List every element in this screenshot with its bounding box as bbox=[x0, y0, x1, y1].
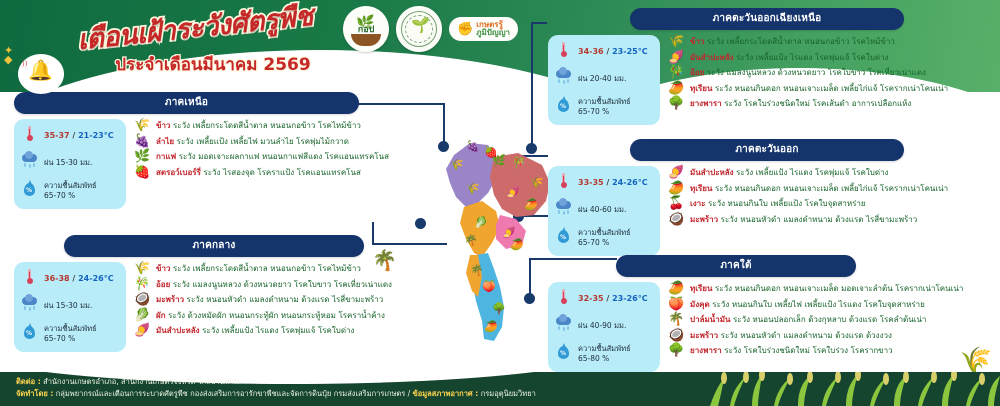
vegetable-icon: 🥬 bbox=[134, 310, 151, 322]
temp-low-south: 23-26°C bbox=[612, 294, 647, 303]
map-icon-longan: 🍇 bbox=[466, 141, 480, 152]
connector-north-h bbox=[355, 103, 445, 105]
page-footer: ติดต่อ : สำนักงานเกษตรอำเภอ, สำนักงานเกษ… bbox=[0, 372, 1000, 406]
crop-row: 🌳ยางพารา ระวัง โรคใบร่วงชนิดใหม่ โรคเส้น… bbox=[668, 98, 948, 110]
crop-row: 🥬ผัก ระวัง ด้วงหมัดผัก หนอนกระทู้ผัก หนอ… bbox=[134, 310, 392, 322]
rubber-icon: 🌳 bbox=[668, 345, 685, 357]
temp-high-central: 36-38 bbox=[44, 274, 70, 283]
humidity-label-north: ความชื้นสัมพัทธ์ bbox=[44, 181, 97, 190]
temp-low-east: 24-26°C bbox=[612, 178, 647, 187]
crop-list-north: 🌾ข้าว ระวัง เพลี้ยกระโดดสีน้ำตาล หนอนกอข… bbox=[134, 119, 389, 182]
humidity-label-central: ความชื้นสัมพัทธ์ bbox=[44, 324, 97, 333]
humidity-drop-icon: % bbox=[555, 229, 572, 248]
logo-group: 🌿 กอป 🌱 ✊ เกษตรรู้ ภูมิปัญญา bbox=[343, 6, 518, 52]
kob-logo-label: กอป bbox=[358, 22, 375, 36]
temp-low-central: 24-26°C bbox=[78, 274, 113, 283]
weather-box-east: 33-35 / 24-26°C ฝน 40-60 มม. % ความชื้นส… bbox=[548, 166, 660, 256]
map-icon-cassava-east: 🍠 bbox=[502, 227, 516, 238]
map-icon-rice-ne: 🌾 bbox=[530, 177, 544, 188]
temp-high-north: 35-37 bbox=[44, 131, 70, 140]
cassava-icon: 🍠 bbox=[668, 52, 685, 64]
footer-contact-text: สำนักงานเกษตรอำเภอ, สำนักงานเกษตรจังหวัด… bbox=[43, 377, 239, 386]
durian-icon: 🥭 bbox=[668, 183, 685, 195]
map-icon-durian-ne: 🥭 bbox=[524, 199, 538, 210]
humidity-value-east: 65-70 % bbox=[578, 238, 609, 247]
kasetru-logo: ✊ เกษตรรู้ ภูมิปัญญา bbox=[449, 17, 518, 42]
fist-icon: ✊ bbox=[457, 22, 473, 37]
crop-row: 🍓สตรอว์เบอร์รี่ ระวัง ไรสองจุด โรคราแป้ง… bbox=[134, 167, 389, 179]
thermometer-icon bbox=[21, 269, 38, 288]
humidity-label-south: ความชื้นสัมพัทธ์ bbox=[578, 344, 631, 353]
cassava-icon: 🍠 bbox=[134, 325, 151, 337]
sugarcane-icon: 🎋 bbox=[134, 279, 151, 291]
rainfall-south: ฝน 40-90 มม. bbox=[578, 321, 626, 331]
durian-icon: 🥭 bbox=[668, 283, 685, 295]
rain-cloud-icon bbox=[555, 317, 572, 335]
rain-cloud-icon bbox=[21, 154, 38, 172]
humidity-drop-icon: % bbox=[21, 182, 38, 201]
map-icon-coffee: 🌿 bbox=[492, 155, 506, 166]
map-icon-palm-south: 🌴 bbox=[470, 265, 484, 276]
map-icon-coconut-central: 🌴 bbox=[464, 235, 478, 246]
rice-icon: 🌾 bbox=[134, 120, 151, 132]
weather-box-central: 36-38 / 24-26°C ฝน 15-30 มม. % ความชื้นส… bbox=[14, 262, 126, 352]
region-panel-south: ภาคใต้ 32-35 / 23-26°C ฝน 40-90 มม. % คว… bbox=[548, 255, 996, 372]
region-title-south: ภาคใต้ bbox=[616, 255, 856, 277]
thermometer-icon bbox=[555, 173, 572, 192]
crop-row: 🥭ทุเรียน ระวัง หนอนกินดอก หนอนเจาะเมล็ด … bbox=[668, 183, 948, 195]
bell-ring-lines: )) bbox=[22, 60, 27, 68]
thailand-map: 🍇 🍓 🌿 🌾 🌾 🎋 🌾 🍠 🥭 🥬 🌴 🍠 🥭 🌴 🍑 🌳 🥭 bbox=[430, 135, 560, 365]
thermometer-icon bbox=[21, 126, 38, 145]
humidity-value-central: 65-70 % bbox=[44, 334, 75, 343]
coffee-icon: 🌿 bbox=[134, 151, 151, 163]
weather-box-south: 32-35 / 23-26°C ฝน 40-90 มม. % ความชื้นส… bbox=[548, 282, 660, 372]
humidity-value-south: 65-80 % bbox=[578, 354, 609, 363]
temp-high-south: 32-35 bbox=[578, 294, 604, 303]
crop-row: 🌳ยางพารา ระวัง โรคใบร่วงชนิดใหม่ โรคใบร่… bbox=[668, 345, 963, 357]
grass-decoration bbox=[700, 372, 1000, 406]
coconut-icon: 🥥 bbox=[668, 214, 685, 226]
humidity-label-northeast: ความชื้นสัมพัทธ์ bbox=[578, 97, 631, 106]
rubber-icon: 🌳 bbox=[668, 98, 685, 110]
rain-cloud-icon bbox=[21, 297, 38, 315]
temp-high-east: 33-35 bbox=[578, 178, 604, 187]
rice-icon: 🌾 bbox=[668, 36, 685, 48]
crop-row: 🎋อ้อย ระวัง แมลงนูนหลวง ด้วงหนวดยาว โรคใ… bbox=[134, 279, 392, 291]
title-block: เตือนเฝ้าระวังศัตรูพืช ประจำเดือนมีนาคม … bbox=[45, 6, 345, 78]
sugarcane-icon: 🎋 bbox=[668, 67, 685, 79]
strawberry-icon: 🍓 bbox=[134, 167, 151, 179]
humidity-label-east: ความชื้นสัมพัทธ์ bbox=[578, 228, 631, 237]
rainfall-northeast: ฝน 20-40 มม. bbox=[578, 74, 626, 84]
longan-icon: 🍇 bbox=[134, 136, 151, 148]
map-region-central bbox=[460, 201, 500, 257]
map-icon-vegetable-central: 🥬 bbox=[474, 217, 488, 228]
humidity-drop-icon: % bbox=[21, 325, 38, 344]
footer-author-text: กลุ่มพยากรณ์และเตือนการระบาดศัตรูพืช กอง… bbox=[56, 389, 411, 398]
crop-row: 🌾ข้าว ระวัง เพลี้ยกระโดดสีน้ำตาล หนอนกอข… bbox=[134, 120, 389, 132]
bell-icon: 🔔 bbox=[28, 58, 53, 82]
crop-row: 🌴ปาล์มน้ำมัน ระวัง หนอนปลอกเล็ก ด้วงกุหล… bbox=[668, 314, 963, 326]
humidity-drop-icon: % bbox=[555, 98, 572, 117]
sparkle-decoration: ✦◆ bbox=[4, 46, 13, 64]
map-icon-rice-north2: 🌾 bbox=[466, 183, 480, 194]
rainfall-central: ฝน 15-30 มม. bbox=[44, 301, 92, 311]
connector-ne-v bbox=[531, 22, 533, 147]
crop-list-south: 🥭ทุเรียน ระวัง หนอนกินดอก หนอนเจาะเมล็ด … bbox=[668, 282, 963, 361]
crop-list-northeast: 🌾ข้าว ระวัง เพลี้ยกระโดดสีน้ำตาล หนอนกอข… bbox=[668, 35, 948, 114]
oilpalm-icon: 🌴 bbox=[668, 314, 685, 326]
cassava-icon: 🍠 bbox=[668, 167, 685, 179]
rice-icon: 🌾 bbox=[134, 263, 151, 275]
durian-icon: 🥭 bbox=[668, 83, 685, 95]
kob-logo: 🌿 กอป bbox=[343, 6, 389, 52]
humidity-drop-icon: % bbox=[555, 345, 572, 364]
thermometer-icon bbox=[555, 42, 572, 61]
crop-row: 🎋อ้อย ระวัง แมลงนูนหลวง ด้วงหนวดยาว โรคใ… bbox=[668, 67, 948, 79]
footer-author-label: จัดทำโดย : bbox=[16, 389, 53, 398]
region-panel-north: ภาคเหนือ 35-37 / 21-23°C ฝน 15-30 มม. % … bbox=[14, 92, 359, 209]
crop-row: 🥭ทุเรียน ระวัง หนอนกินดอก หนอนเจาะเมล็ด … bbox=[668, 283, 963, 295]
temp-low-northeast: 23-25°C bbox=[612, 47, 647, 56]
crop-row: 🌿กาแฟ ระวัง มอดเจาะผลกาแฟ หนอนกาแฟสีแดง … bbox=[134, 151, 389, 163]
humidity-value-north: 65-70 % bbox=[44, 191, 75, 200]
footer-weather-source-label: ข้อมูลสภาพอากาศ : bbox=[413, 389, 479, 398]
crop-row: 🍠มันสำปะหลัง ระวัง เพลี้ยแป้ง ไรแดง โรคพ… bbox=[134, 325, 392, 337]
map-icon-cassava-ne: 🍠 bbox=[506, 187, 520, 198]
footer-contact-label: ติดต่อ : bbox=[16, 377, 41, 386]
thermometer-icon bbox=[555, 289, 572, 308]
crop-row: 🥥มะพร้าว ระวัง หนอนหัวดำ แมลงดำหนาม ด้วง… bbox=[134, 294, 392, 306]
region-panel-east: ภาคตะวันออก 33-35 / 24-26°C ฝน 40-60 มม.… bbox=[548, 139, 996, 256]
crop-row: 🌾ข้าว ระวัง เพลี้ยกระโดดสีน้ำตาล หนอนกอข… bbox=[134, 263, 392, 275]
rain-cloud-icon bbox=[555, 70, 572, 88]
kasetru-logo-label: เกษตรรู้ ภูมิปัญญา bbox=[476, 21, 510, 38]
map-icon-durian-east: 🥭 bbox=[510, 239, 524, 250]
crop-row: 🍠มันสำปะหลัง ระวัง เพลี้ยแป้ง ไรแดง โรคพ… bbox=[668, 52, 948, 64]
crop-row: 🍒เงาะ ระวัง หนอนกินใบ เพลี้ยแป้ง โรคใบจุ… bbox=[668, 198, 948, 210]
decoration-tropical-plants-left: 🌴 bbox=[372, 248, 397, 272]
region-title-northeast: ภาคตะวันออกเฉียงเหนือ bbox=[630, 8, 904, 30]
footer-text-block: ติดต่อ : สำนักงานเกษตรอำเภอ, สำนักงานเกษ… bbox=[16, 376, 536, 400]
region-title-east: ภาคตะวันออก bbox=[630, 139, 904, 161]
region-title-north: ภาคเหนือ bbox=[14, 92, 359, 114]
crop-list-east: 🍠มันสำปะหลัง ระวัง เพลี้ยแป้ง ไรแดง โรคพ… bbox=[668, 166, 948, 229]
doae-seal: 🌱 bbox=[396, 6, 442, 52]
crop-list-central: 🌾ข้าว ระวัง เพลี้ยกระโดดสีน้ำตาล หนอนกอข… bbox=[134, 262, 392, 341]
rainfall-north: ฝน 15-30 มม. bbox=[44, 158, 92, 168]
seal-plant-icon: 🌱 bbox=[411, 16, 430, 34]
map-icon-rubber-south: 🌳 bbox=[492, 303, 506, 314]
infographic-canvas: ✦◆ )) 🔔 เตือนเฝ้าระวังศัตรูพืช ประจำเดือ… bbox=[0, 0, 1000, 406]
rainfall-east: ฝน 40-60 มม. bbox=[578, 205, 626, 215]
lychee-icon: 🍒 bbox=[668, 198, 685, 210]
region-panel-northeast: ภาคตะวันออกเฉียงเหนือ 34-36 / 23-25°C ฝน… bbox=[548, 8, 996, 125]
weather-box-northeast: 34-36 / 23-25°C ฝน 20-40 มม. % ความชื้นส… bbox=[548, 35, 660, 125]
region-panel-central: ภาคกลาง 36-38 / 24-26°C ฝน 15-30 มม. % ค… bbox=[14, 235, 374, 352]
mangosteen-icon: 🍑 bbox=[668, 299, 685, 311]
humidity-value-northeast: 65-70 % bbox=[578, 107, 609, 116]
connector-ne-h bbox=[531, 22, 547, 24]
coconut-icon: 🥥 bbox=[668, 330, 685, 342]
crop-row: 🥥มะพร้าว ระวัง หนอนหัวดำ แมลงดำหนาม ด้วง… bbox=[668, 330, 963, 342]
coconut-icon: 🥥 bbox=[134, 294, 151, 306]
map-icon-rice-north: 🌾 bbox=[450, 159, 464, 170]
temp-low-north: 21-23°C bbox=[78, 131, 113, 140]
crop-row: 🍇ลำไย ระวัง เพลี้ยแป้ง เพลี้ยไฟ มวนลำไย … bbox=[134, 136, 389, 148]
map-icon-sugarcane-ne: 🎋 bbox=[512, 157, 526, 168]
crop-row: 🍑มังคุด ระวัง หนอนกินใบ เพลี้ยไฟ เพลี้ยแ… bbox=[668, 299, 963, 311]
map-icon-durian-south: 🥭 bbox=[484, 321, 498, 332]
weather-box-north: 35-37 / 21-23°C ฝน 15-30 มม. % ความชื้นส… bbox=[14, 119, 126, 209]
rain-cloud-icon bbox=[555, 201, 572, 219]
crop-row: 🌾ข้าว ระวัง เพลี้ยกระโดดสีน้ำตาล หนอนกอข… bbox=[668, 36, 948, 48]
crop-row: 🥥มะพร้าว ระวัง หนอนหัวดำ แมลงดำหนาม ด้วง… bbox=[668, 214, 948, 226]
connector-dot-central bbox=[415, 218, 426, 229]
crop-row: 🥭ทุเรียน ระวัง หนอนกินดอก หนอนเจาะเมล็ด … bbox=[668, 83, 948, 95]
footer-weather-source-text: กรมอุตุนิยมวิทยา bbox=[481, 389, 536, 398]
region-title-central: ภาคกลาง bbox=[64, 235, 364, 257]
temp-high-northeast: 34-36 bbox=[578, 47, 604, 56]
map-icon-mangosteen-south: 🍑 bbox=[482, 281, 496, 292]
crop-row: 🍠มันสำปะหลัง ระวัง เพลี้ยแป้ง ไรแดง โรคพ… bbox=[668, 167, 948, 179]
